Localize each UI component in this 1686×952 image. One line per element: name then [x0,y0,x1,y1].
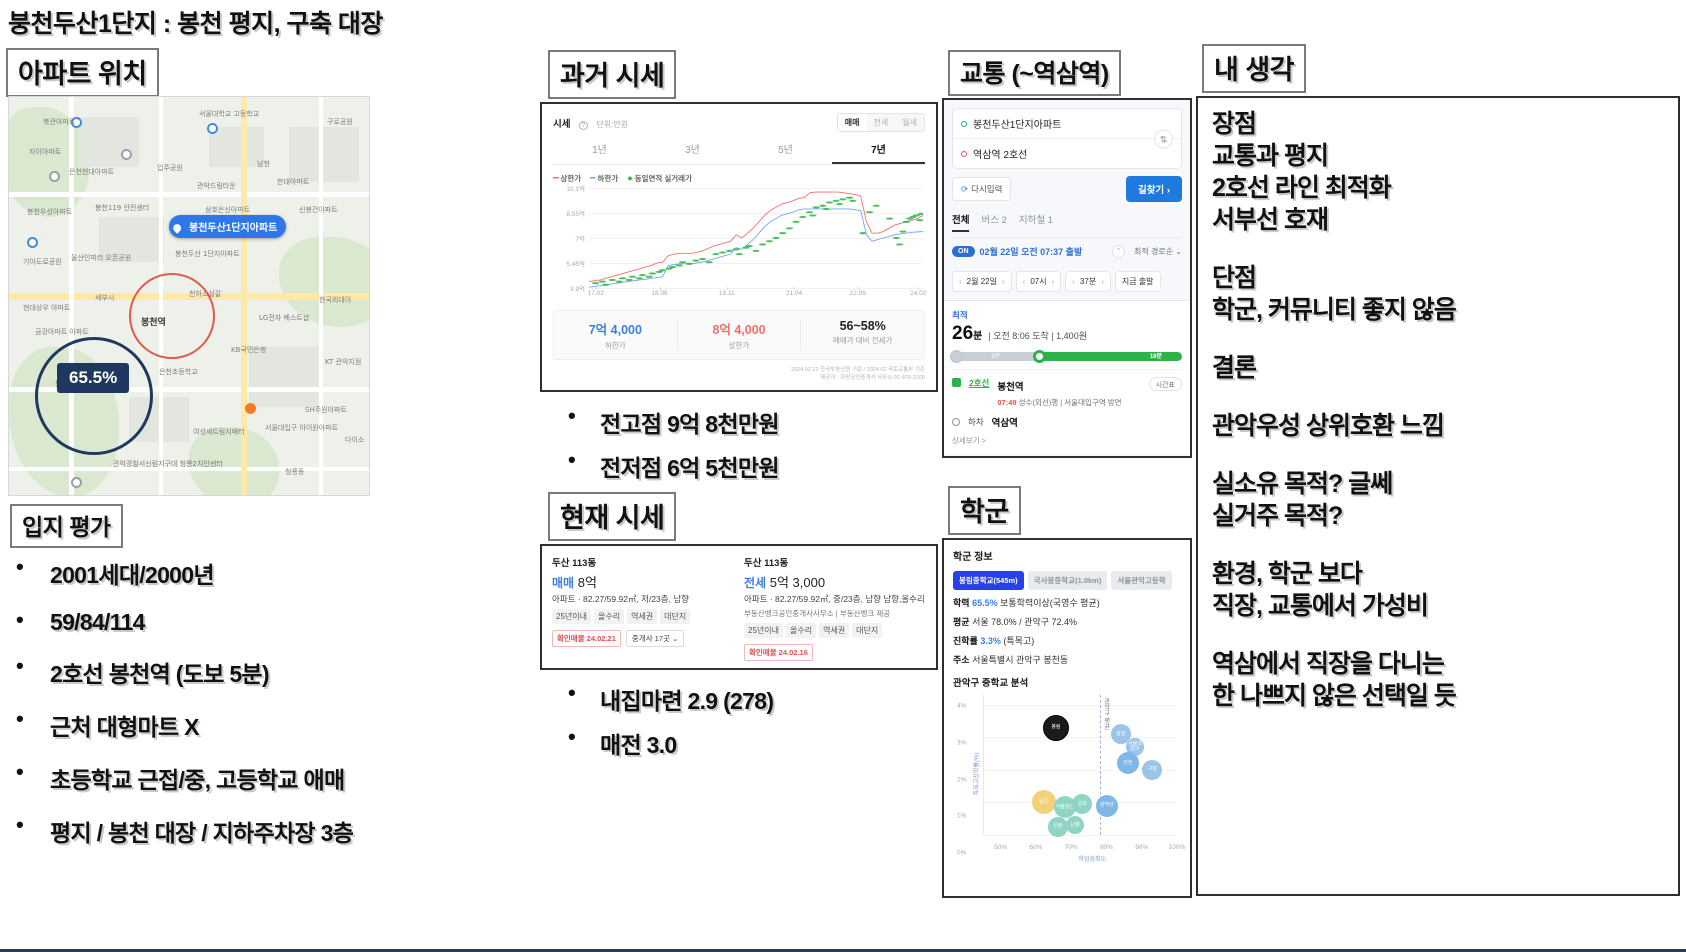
scatter-reference-label: 관악구 평균 [1102,698,1111,730]
datetime-steppers[interactable]: ‹2월 22일› ‹07시› ‹37분› 지금 출발 [952,271,1182,292]
map-label: 청룡동 [285,467,304,477]
listing-item-jeonse[interactable]: 두산 113동 전세 5억 3,000 아파트 · 82.27/59.92㎡, … [744,555,926,659]
page-title: 붕천두산1단지 : 봉천 평지, 구축 대장 [8,4,383,40]
evaluation-list: 2001세대/2000년 59/84/114 2호선 봉천역 (도보 5분) 근… [8,556,538,867]
current-listings-card: 두산 113동 매매 8억 아파트 · 82.27/59.92㎡, 저/23층,… [540,544,938,670]
x-tick: 17.02 [588,290,604,297]
board-station: 봉천역 [997,382,1023,393]
refresh-icon: ⟳ [961,184,968,194]
scatter-x-tick: 70% [1065,844,1078,851]
x-tick: 19.11 [719,290,735,297]
transit-mode-tabs[interactable]: 전체 버스 2 지하철 1 [952,212,1182,237]
scatter-bubble[interactable]: 인헌 [1117,752,1139,774]
route-result[interactable]: 최적 26분 | 오전 8:06 도착 | 1,400원 8분 18분 2호선 … [944,300,1190,454]
map-label: 자이아파트 [29,147,61,157]
school-row-admission: 진학률 3.3% (특목고) [953,634,1181,647]
scatter-gridline [984,705,1177,706]
alight-dot-icon [952,418,960,426]
toggle-option-sale[interactable]: 매매 [838,114,867,131]
scatter-y-tick: 3% [957,739,966,746]
map-label: 현대상우 아파트 [23,303,70,313]
chart-footnote: 2024.02.12 한국부동산원 기준 / 2024.02 국토교통부 기준 … [553,366,925,383]
redo-input-button[interactable]: ⟳다시입력 [952,177,1011,201]
y-tick: 10.1억 [566,183,585,193]
map-label: 관악경찰서신림지구대 청룡2치안센터 [113,459,223,469]
apartment-location-map[interactable]: 북관아파트 서울대학교 고등학교 구로공원 은천현대아파트 입주공원 남현 자이… [8,96,370,496]
tab-bus[interactable]: 버스 2 [981,212,1006,232]
alight-station: 역삼역 [992,415,1018,429]
school-row-address: 주소 서울특별시 관악구 봉천동 [953,653,1181,666]
route-arrival: | 오전 8:06 도착 | 1,400원 [988,329,1087,342]
x-tick: 22.09 [850,290,866,297]
list-item: 내집마련 2.9 (278) [560,682,980,716]
section-heading-opinion: 내 생각 [1202,44,1306,93]
school-card-title: 학군 정보 [953,548,1181,563]
scatter-x-tick: 100% [1169,844,1186,851]
price-line-chart: 10.1억 8.55억 7억 5.45억 3.9억 [553,188,925,288]
opinion-block-conclusion-label: 결론 [1212,352,1664,384]
list-item: 전고점 9억 8천만원 [560,405,980,439]
school-scatter-chart: 특목고진학률(%) 관악구 평균봉림삼성서울대입구인헌구암당곡서울광신성보관악산… [953,695,1181,853]
map-label: 한대아파트 [277,177,309,187]
map-score-badge: 65.5% [57,363,129,393]
deal-type-toggle[interactable]: 매매 전세 월세 [837,113,925,132]
map-label: 은천현대아파트 [69,167,114,177]
tab-all[interactable]: 전체 [952,212,969,232]
ride-segment: 18분 [1039,352,1182,361]
map-label: 구로공원 [327,117,353,127]
school-row-average: 평균 서울 78.0% / 관악구 72.4% [953,615,1181,628]
price-stats: 7억 4,000 하한가 8억 4,000 상한가 56~58% 매매가 대비 … [553,310,925,360]
section-heading-current-price: 현재 시세 [548,492,676,541]
y-tick: 3.9억 [570,283,585,293]
school-analysis-title: 관악구 중학교 분석 [953,675,1181,689]
map-label: 봉천두산 1단지아파트 [175,249,240,259]
section-heading-school: 학군 [948,486,1021,535]
list-item: 평지 / 봉천 대장 / 지하주차장 3층 [8,814,538,848]
map-label: 서울대학교 고등학교 [199,109,259,119]
subway-icon [952,378,961,387]
listing-dong: 두산 113동 [552,555,734,569]
tab-1year[interactable]: 1년 [553,141,646,164]
origin-dot-icon [961,121,967,127]
scatter-bubble[interactable]: 구암 [1142,760,1162,780]
map-road [9,192,370,197]
listing-tags: 25년이내 올수리 역세권 대단지 [552,609,734,624]
stat-jeonse-ratio: 56~58% 매매가 대비 전세가 [801,319,924,351]
legend-lower: ━하한가 [590,173,618,184]
scatter-gridline [984,835,1177,836]
map-block [79,117,139,167]
scatter-bubble[interactable]: 성보 [1072,794,1092,814]
list-item: 전저점 6억 5천만원 [560,449,980,483]
scatter-y-tick: 1% [957,813,966,820]
scatter-x-tick: 90% [1135,844,1148,851]
listing-tags: 25년이내 올수리 역세권 대단지 [744,623,926,638]
map-label: SH주원아파트 [305,405,347,415]
map-label: 다이소 [345,435,364,445]
map-label: KB국민은행 [231,345,266,355]
best-route-label: 최적 [952,309,1182,321]
map-pin-apartment[interactable]: 봉천두산1단지아파트 [169,215,286,238]
map-label: 울산인피리 오픈공원 [71,253,131,263]
x-tick: 21.04 [786,290,802,297]
list-item: 2호선 봉천역 (도보 5분) [8,655,538,689]
map-label: LG전자 베스트샵 [259,313,309,323]
map-block [209,127,264,167]
map-poi-icon [121,149,132,160]
section-heading-location: 아파트 위치 [6,48,159,97]
map-label: 봉천우성아파트 [27,207,72,217]
destination-dot-icon [961,151,967,157]
opinion-block-c3: 환경, 학군 보다 직장, 교통에서 가성비 [1212,558,1664,622]
map-label: 여성세트림지배터 [193,427,245,437]
opinion-block-c2: 실소유 목적? 글쎄 실거주 목적? [1212,468,1664,532]
opinion-block-c4: 역삼에서 직장을 다니는 한 나쁘지 않은 선택일 듯 [1212,648,1664,712]
stat-upper-price: 8억 4,000 상한가 [678,319,802,351]
scatter-y-tick: 4% [957,703,966,710]
section-heading-transit: 교통 (~역삼역) [948,50,1121,96]
list-item: 초등학교 근접/중, 고등학교 애매 [8,761,538,795]
map-poi-icon [71,477,82,488]
list-item: 2001세대/2000년 [8,556,538,590]
map-poi-icon [27,237,38,248]
current-price-bullets: 내집마련 2.9 (278) 매전 3.0 [560,682,980,770]
tab-subway[interactable]: 지하철 1 [1019,212,1053,232]
map-poi-icon [207,123,218,134]
map-label: 서울대입구 아이원아파트 [265,423,338,433]
toggle-option-jeonse[interactable]: 전세 [867,114,896,131]
walk-segment: 8분 [952,352,1039,361]
board-detail: 07:49 성수(외선)행 | 서울대입구역 방면 [997,397,1121,408]
tab-7year[interactable]: 7년 [832,141,925,164]
subway-line[interactable]: 2호선 [969,377,989,408]
verified-badge: 확인매물 24.02.16 [744,644,813,661]
agency-count-button[interactable]: 중개사 17곳 ⌄ [626,630,684,647]
map-label: KT 관악지점 [325,357,361,367]
transit-route-card: 봉천두산1단지아파트 역삼역 2호선 ⇅ ⟳다시입력 길찾기 › 전체 버스 2… [942,98,1192,458]
past-price-bullets: 전고점 9억 8천만원 전저점 6억 5천만원 [560,405,980,493]
listing-item-sale[interactable]: 두산 113동 매매 8억 아파트 · 82.27/59.92㎡, 저/23층,… [552,555,734,659]
map-block [289,127,359,182]
chart-unit: 단위:만원 [596,120,628,129]
school-pill-bongrim[interactable]: 봉림중학교(545m) [953,571,1024,590]
walk-icon [950,350,963,363]
sort-selector[interactable]: 최적 경로순 ⌄ [1134,246,1182,257]
map-label: 신봉건아파트 [299,205,338,215]
scatter-bubble[interactable]: 당곡 [1032,790,1056,814]
list-item: 근처 대형마트 X [8,708,538,742]
map-label: 기아도로공원 [23,257,62,267]
on-badge: ON [952,246,975,257]
scatter-bubble[interactable]: 봉림 [1043,715,1069,741]
listing-badges: 확인매물 24.02.21 중개사 17곳 ⌄ [552,630,734,647]
timetable-button[interactable]: 시간표 [1149,377,1182,391]
x-axis: 17.02 18.06 19.11 21.04 22.09 24.02 [589,290,925,302]
range-tabs[interactable]: 1년 3년 5년 7년 [553,141,925,165]
map-poi-icon [49,171,60,182]
list-item: 매전 3.0 [560,726,980,760]
route-detail-link[interactable]: 상세보기 > [952,435,1182,446]
chevron-up-icon[interactable]: ⌃ [1112,245,1125,258]
hour-stepper[interactable]: ‹07시› [1016,271,1062,292]
x-tick: 18.06 [651,290,667,297]
map-label: 입주공원 [157,163,183,173]
y-tick: 7억 [575,233,585,243]
verified-badge: 확인매물 24.02.21 [552,630,621,647]
map-block [249,347,319,407]
origin-field[interactable]: 봉천두산1단지아파트 [953,109,1181,138]
date-stepper[interactable]: ‹2월 22일› [952,271,1012,292]
scatter-y-tick: 0% [957,850,966,857]
departure-row[interactable]: ON 02월 22일 오전 07:37 출발 ⌃ 최적 경로순 ⌄ [952,237,1182,265]
map-label: 북관아파트 [43,117,75,127]
scatter-x-tick: 50% [994,844,1007,851]
stat-lower-price: 7억 4,000 하한가 [554,319,678,351]
listing-badges: 확인매물 24.02.16 [744,644,926,661]
school-pill-guksabong[interactable]: 국사봉중학교(1.0km) [1028,571,1108,590]
listing-price: 매매 8억 [552,572,734,591]
listing-price: 전세 5억 3,000 [744,572,926,591]
map-label: 은천초등학교 [159,367,198,377]
school-pill-gwanak[interactable]: 서울관악고등학 [1111,571,1171,590]
find-route-button[interactable]: 길찾기 › [1126,176,1182,202]
route-step-alight: 하차 역삼역 [952,415,1182,429]
route-inputs: 봉천두산1단지아파트 역삼역 2호선 ⇅ [952,108,1182,169]
opinion-block-c1: 관악우성 상위호환 느낌 [1212,410,1664,442]
actual-trades-svg [589,188,923,288]
school-info-card: 학군 정보 봉림중학교(545m) 국사봉중학교(1.0km) 서울관악고등학 … [942,538,1192,898]
x-tick: 24.02 [910,290,926,297]
scatter-y-tick: 2% [957,776,966,783]
route-progress-bar: 8분 18분 [952,352,1182,361]
route-duration: 26분 [952,323,982,345]
map-label: 세부시 [95,293,114,303]
minute-stepper[interactable]: ‹37분› [1065,271,1111,292]
section-heading-evaluation: 입지 평가 [10,504,123,548]
map-label: 관악드림타운 [197,181,236,191]
toggle-option-wolse[interactable]: 월세 [895,114,924,131]
y-axis: 10.1억 8.55억 7억 5.45억 3.9억 [553,188,587,288]
chart-title: 시세 [553,119,570,130]
departure-text: 02월 22일 오전 07:37 출발 [980,245,1083,258]
tab-5year[interactable]: 5년 [739,141,832,164]
depart-now-button[interactable]: 지금 출발 [1115,271,1161,292]
map-label: 봉천119 안전센터 [95,203,149,213]
scatter-y-label: 특목고진학률(%) [972,753,981,795]
plot-area [589,188,923,288]
map-label: 한국외대이 [319,295,351,305]
scatter-gridline [984,737,1177,738]
scatter-plot-area: 관악구 평균봉림삼성서울대입구인헌구암당곡서울광신성보관악산신림난향 [983,695,1177,835]
tab-3year[interactable]: 3년 [646,141,739,164]
help-icon[interactable]: ? [579,121,588,130]
segment-knob [1033,350,1046,363]
map-label-station: 봉천역 [141,315,166,328]
listing-agency: 부동산뱅크공인중개사사무소 | 부동산뱅크 제공 [744,608,926,619]
swap-vertical-icon[interactable]: ⇅ [1154,129,1173,148]
chart-legend: ━상한가 ━하한가 ●동일면적 실거래가 [553,173,925,184]
scatter-x-tick: 60% [1029,844,1042,851]
list-item: 59/84/114 [8,609,538,636]
school-row-achievement: 학력 65.5% 보통학력이상(국영수 평균) [953,596,1181,609]
map-label: 삼호은신아파트 [205,205,250,215]
opinion-body: 장점 교통과 평지 2호선 라인 최적화 서부선 호재 단점 학군, 커뮤니티 … [1196,96,1680,896]
listing-desc: 아파트 · 82.27/59.92㎡, 중/23층, 남향 남향,올수리 [744,594,926,605]
scatter-bubble[interactable]: 관악산 [1096,795,1118,817]
scatter-x-tick: 80% [1100,844,1113,851]
scatter-bubble[interactable]: 신림 [1048,817,1068,837]
y-tick: 5.45억 [566,258,585,268]
route-step-board: 2호선 봉천역 07:49 성수(외선)행 | 서울대입구역 방면 시간표 [952,369,1182,408]
opinion-block-cons: 단점 학군, 커뮤니티 좋지 않음 [1212,262,1664,326]
map-label: 남현 [257,159,270,169]
scatter-bubble[interactable]: 난향 [1066,816,1084,834]
listing-dong: 두산 113동 [744,555,926,569]
school-selector[interactable]: 봉림중학교(545m) 국사봉중학교(1.0km) 서울관악고등학 [953,571,1181,590]
y-tick: 8.55억 [566,208,585,218]
section-heading-past-price: 과거 시세 [548,50,676,99]
opinion-block-pros: 장점 교통과 평지 2호선 라인 최적화 서부선 호재 [1212,108,1664,236]
scatter-x-label: 학업성취도 [1078,854,1106,863]
map-poi-icon [245,403,256,414]
destination-field[interactable]: 역삼역 2호선 [953,138,1181,168]
map-highlight-circle-navy [35,337,153,455]
legend-actual: ●동일면적 실거래가 [627,173,692,184]
price-history-card: 시세 ? 단위:만원 매매 전세 월세 1년 3년 5년 7년 ━상한가 ━하한… [540,102,938,392]
map-label: 금강아파트 아파트 [35,327,89,337]
listing-desc: 아파트 · 82.27/59.92㎡, 저/23층, 남향 [552,594,734,605]
